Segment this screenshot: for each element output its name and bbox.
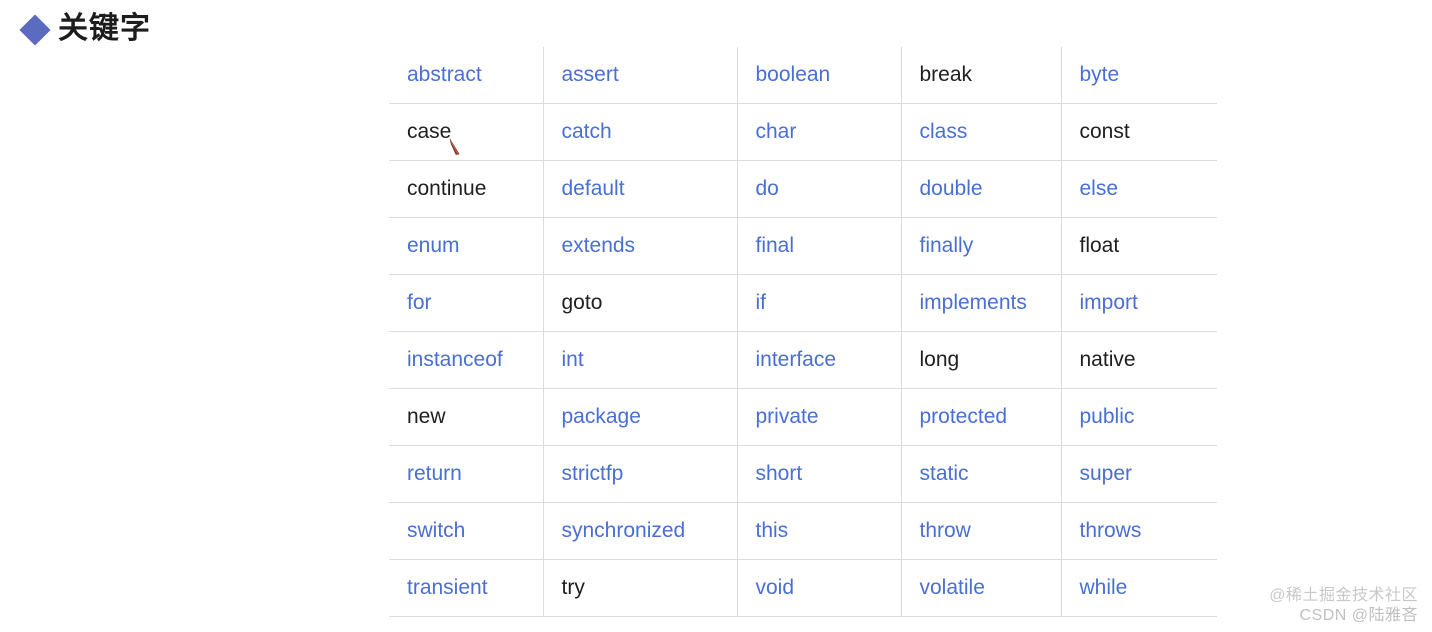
page-title-label: 关键字 bbox=[58, 14, 151, 46]
table-row: return strictfp short static super bbox=[389, 446, 1217, 503]
keyword-cell: double bbox=[901, 161, 1061, 218]
keyword-cell: native bbox=[1061, 332, 1217, 389]
keyword-cell: case bbox=[389, 104, 543, 161]
keyword-cell: byte bbox=[1061, 47, 1217, 104]
keyword-cell: void bbox=[737, 560, 901, 617]
keyword-cell: super bbox=[1061, 446, 1217, 503]
keyword-cell: final bbox=[737, 218, 901, 275]
keyword-cell: try bbox=[543, 560, 737, 617]
keyword-cell: enum bbox=[389, 218, 543, 275]
java-keywords-table: abstract assert boolean break byte case … bbox=[389, 47, 1217, 617]
keyword-cell: return bbox=[389, 446, 543, 503]
keyword-cell: finally bbox=[901, 218, 1061, 275]
keyword-cell: volatile bbox=[901, 560, 1061, 617]
table-row: new package private protected public bbox=[389, 389, 1217, 446]
keyword-cell: break bbox=[901, 47, 1061, 104]
keyword-cell: instanceof bbox=[389, 332, 543, 389]
watermark: @稀土掘金技术社区 CSDN @陆雅吝 bbox=[1269, 586, 1418, 626]
keyword-cell: throws bbox=[1061, 503, 1217, 560]
keyword-cell: new bbox=[389, 389, 543, 446]
keyword-cell: continue bbox=[389, 161, 543, 218]
keyword-cell: if bbox=[737, 275, 901, 332]
keyword-cell: strictfp bbox=[543, 446, 737, 503]
table-row: enum extends final finally float bbox=[389, 218, 1217, 275]
keyword-cell: switch bbox=[389, 503, 543, 560]
keyword-cell: this bbox=[737, 503, 901, 560]
keyword-cell: package bbox=[543, 389, 737, 446]
keyword-cell: import bbox=[1061, 275, 1217, 332]
page-title: 关键字 bbox=[24, 14, 151, 46]
table-row: instanceof int interface long native bbox=[389, 332, 1217, 389]
table-row: for goto if implements import bbox=[389, 275, 1217, 332]
keyword-cell: extends bbox=[543, 218, 737, 275]
keyword-cell: assert bbox=[543, 47, 737, 104]
keyword-cell: protected bbox=[901, 389, 1061, 446]
keyword-cell: synchronized bbox=[543, 503, 737, 560]
watermark-line-2: CSDN @陆雅吝 bbox=[1269, 606, 1418, 626]
keyword-cell: throw bbox=[901, 503, 1061, 560]
keyword-cell: long bbox=[901, 332, 1061, 389]
keyword-cell: default bbox=[543, 161, 737, 218]
keyword-cell: do bbox=[737, 161, 901, 218]
keyword-cell: else bbox=[1061, 161, 1217, 218]
keyword-cell: short bbox=[737, 446, 901, 503]
keyword-cell: public bbox=[1061, 389, 1217, 446]
table-row: continue default do double else bbox=[389, 161, 1217, 218]
keyword-cell: while bbox=[1061, 560, 1217, 617]
keyword-cell: transient bbox=[389, 560, 543, 617]
keyword-cell: const bbox=[1061, 104, 1217, 161]
keyword-cell: implements bbox=[901, 275, 1061, 332]
keyword-cell: catch bbox=[543, 104, 737, 161]
keyword-cell: interface bbox=[737, 332, 901, 389]
keyword-cell: static bbox=[901, 446, 1061, 503]
table-row: abstract assert boolean break byte bbox=[389, 47, 1217, 104]
keyword-cell: private bbox=[737, 389, 901, 446]
table-row: transient try void volatile while bbox=[389, 560, 1217, 617]
table-row: case catch char class const bbox=[389, 104, 1217, 161]
keyword-cell: float bbox=[1061, 218, 1217, 275]
table-row: switch synchronized this throw throws bbox=[389, 503, 1217, 560]
keyword-table-body: abstract assert boolean break byte case … bbox=[389, 47, 1217, 617]
diamond-bullet-icon bbox=[19, 14, 50, 45]
keyword-cell: abstract bbox=[389, 47, 543, 104]
keyword-cell: char bbox=[737, 104, 901, 161]
keyword-cell: for bbox=[389, 275, 543, 332]
keyword-cell: boolean bbox=[737, 47, 901, 104]
keyword-cell: goto bbox=[543, 275, 737, 332]
keyword-cell: class bbox=[901, 104, 1061, 161]
keyword-cell: int bbox=[543, 332, 737, 389]
watermark-line-1: @稀土掘金技术社区 bbox=[1269, 586, 1418, 606]
